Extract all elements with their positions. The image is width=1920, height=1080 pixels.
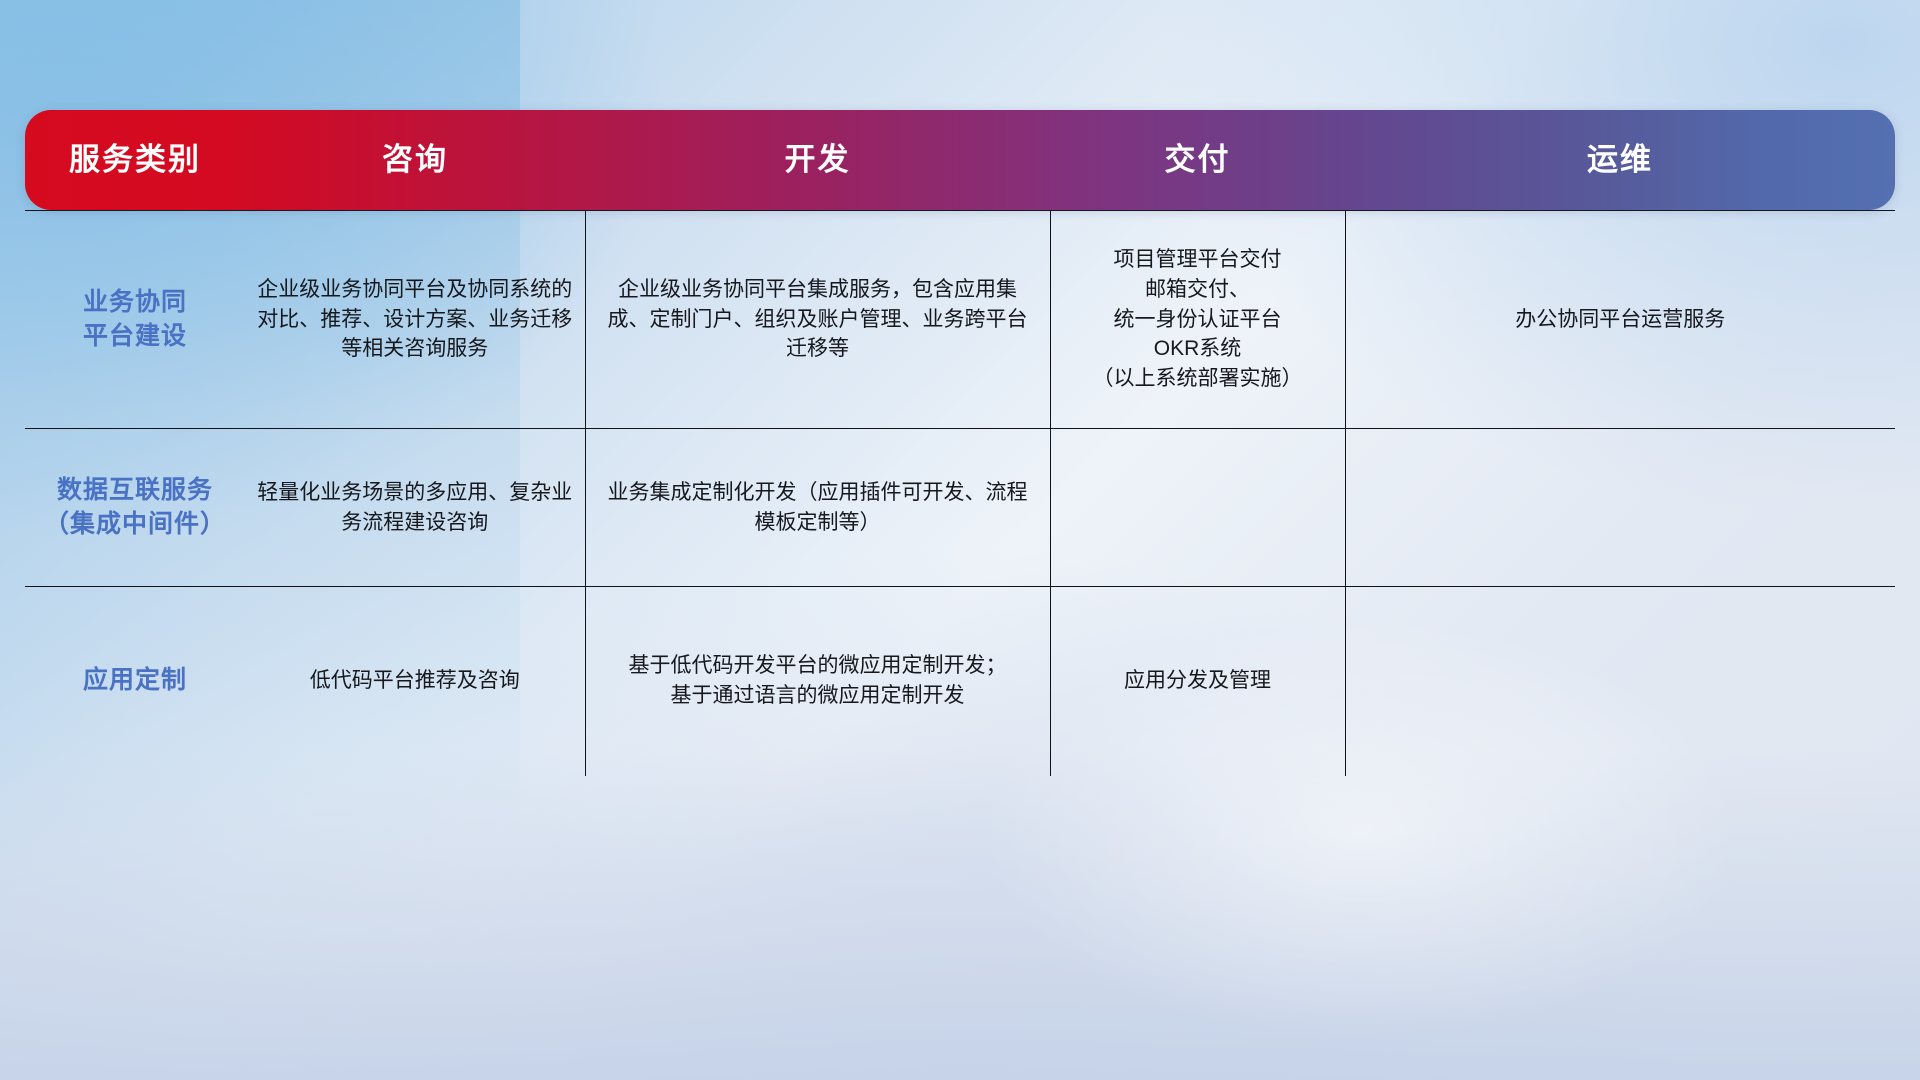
service-matrix: 服务类别 咨询 开发 交付 运维 业务协同 平台	[25, 110, 1895, 776]
header-row: 服务类别 咨询 开发 交付 运维	[25, 110, 1895, 211]
header-cell-operations: 运维	[1345, 110, 1895, 211]
cell-text: 应用分发及管理	[1124, 669, 1271, 692]
header-cell-development: 开发	[585, 110, 1050, 211]
cell-text-line: 项目管理平台交付	[1063, 245, 1333, 275]
cell-text-line: 基于通过语言的微应用定制开发	[598, 681, 1038, 711]
cell-text: 企业级业务协同平台集成服务，包含应用集成、定制门户、组织及账户管理、业务跨平台迁…	[608, 278, 1028, 361]
table-row: 数据互联服务 （集成中间件） 轻量化业务场景的多应用、复杂业务流程建设咨询 业务…	[25, 429, 1895, 587]
category-line: 业务协同	[37, 286, 233, 320]
cell-consulting: 低代码平台推荐及咨询	[245, 587, 585, 776]
table-row: 业务协同 平台建设 企业级业务协同平台及协同系统的对比、推荐、设计方案、业务迁移…	[25, 211, 1895, 429]
cell-delivery: 应用分发及管理	[1050, 587, 1345, 776]
cell-consulting: 轻量化业务场景的多应用、复杂业务流程建设咨询	[245, 429, 585, 587]
cell-text: 低代码平台推荐及咨询	[310, 669, 520, 692]
header-label-service-category: 服务类别	[25, 110, 245, 210]
header-label-development: 开发	[585, 110, 1050, 210]
row-category-label: 应用定制	[25, 587, 245, 776]
cell-development: 基于低代码开发平台的微应用定制开发； 基于通过语言的微应用定制开发	[585, 587, 1050, 776]
table-body: 业务协同 平台建设 企业级业务协同平台及协同系统的对比、推荐、设计方案、业务迁移…	[25, 211, 1895, 776]
row-category-label: 数据互联服务 （集成中间件）	[25, 429, 245, 587]
category-line: （集成中间件）	[37, 508, 233, 542]
header-label-delivery: 交付	[1050, 110, 1345, 210]
row-category-label: 业务协同 平台建设	[25, 211, 245, 429]
cell-text: 办公协同平台运营服务	[1515, 308, 1725, 331]
cell-operations: 办公协同平台运营服务	[1345, 211, 1895, 429]
cell-delivery: 项目管理平台交付 邮箱交付、 统一身份认证平台 OKR系统 （以上系统部署实施）	[1050, 211, 1345, 429]
cell-delivery	[1050, 429, 1345, 587]
table-row: 应用定制 低代码平台推荐及咨询 基于低代码开发平台的微应用定制开发； 基于通过语…	[25, 587, 1895, 776]
cell-text-line: OKR系统	[1063, 334, 1333, 364]
category-line: 数据互联服务	[37, 474, 233, 508]
category-line: 平台建设	[37, 320, 233, 354]
cell-text-line: 统一身份认证平台	[1063, 305, 1333, 335]
header-label-consulting: 咨询	[245, 110, 585, 210]
header-cell-delivery: 交付	[1050, 110, 1345, 211]
cell-text-line: （以上系统部署实施）	[1063, 364, 1333, 394]
cell-operations	[1345, 587, 1895, 776]
cell-text-line: 邮箱交付、	[1063, 275, 1333, 305]
cell-text: 企业级业务协同平台及协同系统的对比、推荐、设计方案、业务迁移等相关咨询服务	[257, 278, 572, 361]
cell-operations	[1345, 429, 1895, 587]
header-label-operations: 运维	[1345, 110, 1895, 210]
cell-text-line: 基于低代码开发平台的微应用定制开发；	[598, 651, 1038, 681]
cell-consulting: 企业级业务协同平台及协同系统的对比、推荐、设计方案、业务迁移等相关咨询服务	[245, 211, 585, 429]
cell-text: 业务集成定制化开发（应用插件可开发、流程模板定制等）	[608, 481, 1028, 534]
header-cell-service-category: 服务类别	[25, 110, 245, 211]
header-cell-consulting: 咨询	[245, 110, 585, 211]
table-header: 服务类别 咨询 开发 交付 运维	[25, 110, 1895, 211]
category-line: 应用定制	[37, 664, 233, 698]
service-table: 服务类别 咨询 开发 交付 运维 业务协同 平台	[25, 110, 1895, 776]
cell-development: 企业级业务协同平台集成服务，包含应用集成、定制门户、组织及账户管理、业务跨平台迁…	[585, 211, 1050, 429]
cell-development: 业务集成定制化开发（应用插件可开发、流程模板定制等）	[585, 429, 1050, 587]
cell-text: 轻量化业务场景的多应用、复杂业务流程建设咨询	[257, 481, 572, 534]
